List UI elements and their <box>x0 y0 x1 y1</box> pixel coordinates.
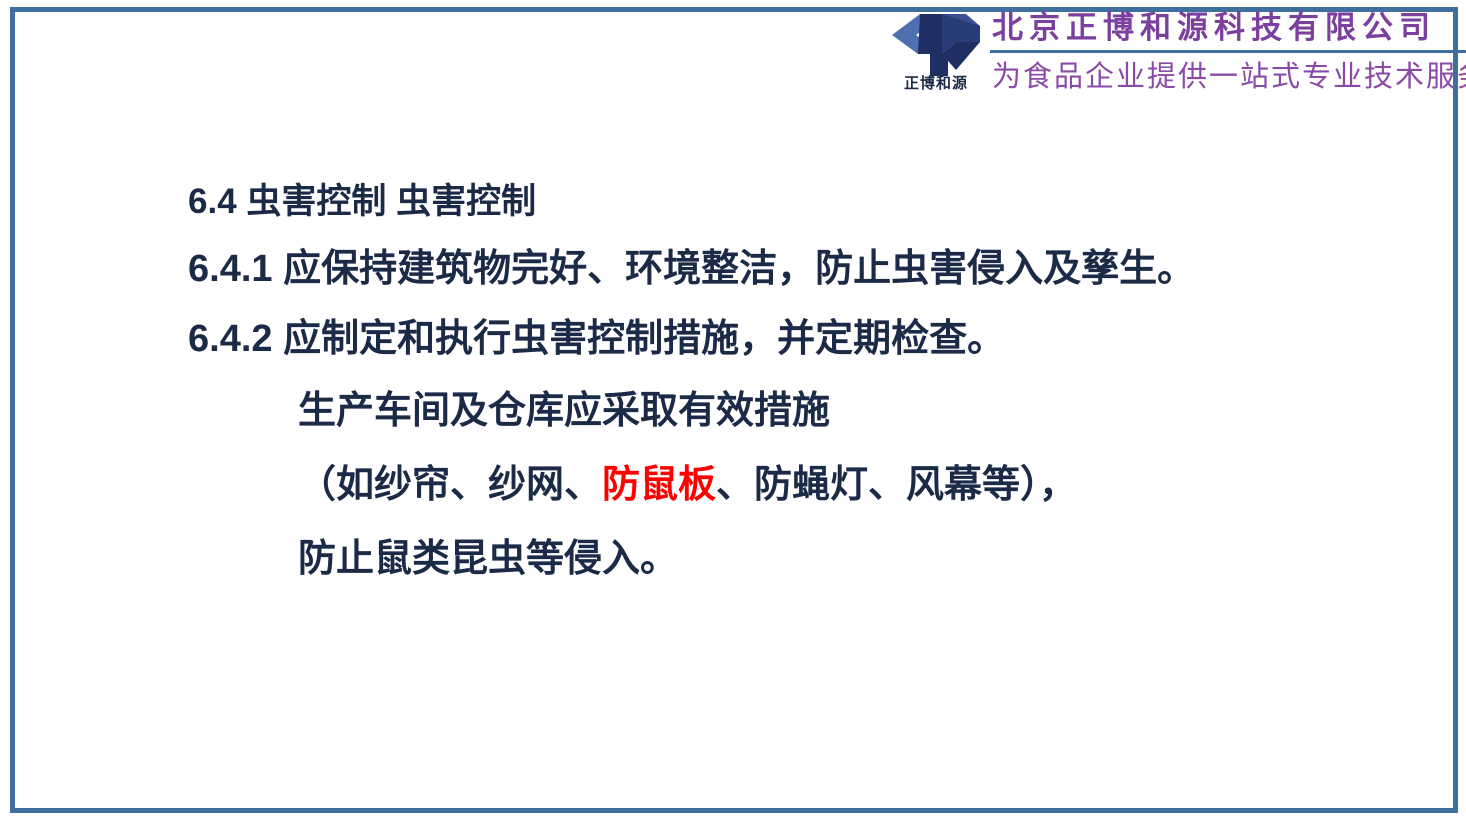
clause-6-4-2: 6.4.2 应制定和执行虫害控制措施，并定期检查。 <box>188 304 1368 374</box>
company-logo-icon <box>890 8 982 80</box>
detail-line-2-suffix: 、防蝇灯、风幕等）， <box>716 464 1077 506</box>
company-text-block: 北京正博和源科技有限公司 为食品企业提供一站式专业技术服务 <box>986 6 1466 106</box>
detail-line-2: （如纱帘、纱网、防鼠板、防蝇灯、风幕等）， <box>188 448 1368 522</box>
heading-6-4: 6.4 虫害控制 虫害控制 <box>188 170 1368 234</box>
slide-canvas: 正博和源 北京正博和源科技有限公司 为食品企业提供一站式专业技术服务 6.4 虫… <box>0 0 1466 824</box>
detail-line-1: 生产车间及仓库应采取有效措施 <box>188 374 1368 448</box>
company-header: 正博和源 北京正博和源科技有限公司 为食品企业提供一站式专业技术服务 <box>886 6 1458 108</box>
detail-line-2-highlight: 防鼠板 <box>602 464 716 506</box>
detail-line-3: 防止鼠类昆虫等侵入。 <box>188 522 1368 596</box>
company-logo: 正博和源 <box>886 6 986 106</box>
clause-6-4-1: 6.4.1 应保持建筑物完好、环境整洁，防止虫害侵入及孳生。 <box>188 234 1368 304</box>
detail-line-2-prefix: （如纱帘、纱网、 <box>298 464 602 506</box>
company-name: 北京正博和源科技有限公司 <box>992 6 1466 50</box>
company-logo-wordmark: 正博和源 <box>890 76 982 91</box>
company-tagline: 为食品企业提供一站式专业技术服务 <box>992 53 1466 101</box>
slide-body: 6.4 虫害控制 虫害控制 6.4.1 应保持建筑物完好、环境整洁，防止虫害侵入… <box>188 170 1368 596</box>
